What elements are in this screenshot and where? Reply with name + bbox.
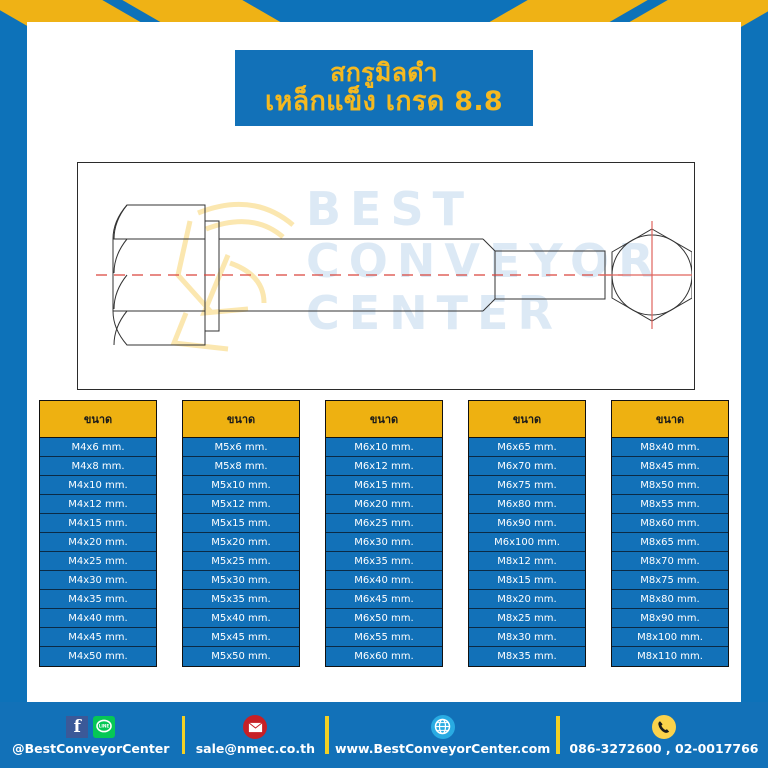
table-row[interactable]: M4x30 mm.: [40, 571, 156, 590]
table-row[interactable]: M5x40 mm.: [183, 609, 299, 628]
table-row[interactable]: M8x60 mm.: [612, 514, 728, 533]
contact-footer: f LINE @BestConveyorCenter: [0, 702, 768, 768]
size-tables: ขนาด M4x6 mm. M4x8 mm. M4x10 mm. M4x12 m…: [39, 400, 729, 667]
phone-icon[interactable]: [652, 715, 676, 739]
envelope-icon[interactable]: [243, 715, 267, 739]
phone-label: 086-3272600 , 02-0017766: [569, 741, 758, 756]
table-row[interactable]: M4x6 mm.: [40, 438, 156, 457]
page-title: สกรูมิลดำ เหล็กแข็ง เกรด 8.8: [235, 50, 533, 126]
table-row[interactable]: M5x15 mm.: [183, 514, 299, 533]
table-row[interactable]: M6x40 mm.: [326, 571, 442, 590]
table-row[interactable]: M4x35 mm.: [40, 590, 156, 609]
size-table-1: ขนาด M4x6 mm. M4x8 mm. M4x10 mm. M4x12 m…: [39, 400, 157, 667]
table-row[interactable]: M8x75 mm.: [612, 571, 728, 590]
footer-website[interactable]: www.BestConveyorCenter.com: [329, 715, 556, 756]
table-row[interactable]: M4x45 mm.: [40, 628, 156, 647]
table-body: M6x10 mm. M6x12 mm. M6x15 mm. M6x20 mm. …: [325, 438, 443, 667]
footer-email[interactable]: sale@nmec.co.th: [185, 715, 325, 756]
email-icons: [243, 715, 267, 739]
table-row[interactable]: M8x12 mm.: [469, 552, 585, 571]
title-line-1: สกรูมิลดำ: [330, 59, 438, 86]
table-row[interactable]: M5x30 mm.: [183, 571, 299, 590]
table-row[interactable]: M6x55 mm.: [326, 628, 442, 647]
table-row[interactable]: M6x35 mm.: [326, 552, 442, 571]
table-row[interactable]: M6x100 mm.: [469, 533, 585, 552]
table-body: M6x65 mm. M6x70 mm. M6x75 mm. M6x80 mm. …: [468, 438, 586, 667]
table-body: M5x6 mm. M5x8 mm. M5x10 mm. M5x12 mm. M5…: [182, 438, 300, 667]
globe-glyph: [434, 718, 451, 735]
table-row[interactable]: M8x20 mm.: [469, 590, 585, 609]
phone-icons: [652, 715, 676, 739]
table-row[interactable]: M4x15 mm.: [40, 514, 156, 533]
facebook-label: @BestConveyorCenter: [12, 741, 169, 756]
footer-phone[interactable]: 086-3272600 , 02-0017766: [560, 715, 768, 756]
watermark-line-1: BEST: [306, 182, 473, 236]
table-row[interactable]: M5x35 mm.: [183, 590, 299, 609]
table-row[interactable]: M5x45 mm.: [183, 628, 299, 647]
website-icons: [431, 715, 455, 739]
social-icons: f LINE: [66, 715, 115, 739]
table-row[interactable]: M6x65 mm.: [469, 438, 585, 457]
table-row[interactable]: M8x100 mm.: [612, 628, 728, 647]
table-row[interactable]: M8x80 mm.: [612, 590, 728, 609]
table-row[interactable]: M6x30 mm.: [326, 533, 442, 552]
table-row[interactable]: M8x55 mm.: [612, 495, 728, 514]
table-row[interactable]: M6x50 mm.: [326, 609, 442, 628]
table-row[interactable]: M5x10 mm.: [183, 476, 299, 495]
facebook-icon[interactable]: f: [66, 716, 88, 738]
table-row[interactable]: M4x20 mm.: [40, 533, 156, 552]
table-row[interactable]: M6x60 mm.: [326, 647, 442, 666]
table-row[interactable]: M8x90 mm.: [612, 609, 728, 628]
table-row[interactable]: M5x25 mm.: [183, 552, 299, 571]
table-row[interactable]: M6x20 mm.: [326, 495, 442, 514]
table-header: ขนาด: [182, 400, 300, 438]
size-table-4: ขนาด M6x65 mm. M6x70 mm. M6x75 mm. M6x80…: [468, 400, 586, 667]
table-row[interactable]: M5x50 mm.: [183, 647, 299, 666]
bolt-drawing-box: BEST CONVEYOR CENTER: [77, 162, 695, 390]
table-row[interactable]: M6x90 mm.: [469, 514, 585, 533]
globe-icon[interactable]: [431, 715, 455, 739]
table-row[interactable]: M4x40 mm.: [40, 609, 156, 628]
footer-social[interactable]: f LINE @BestConveyorCenter: [0, 715, 182, 756]
table-row[interactable]: M6x12 mm.: [326, 457, 442, 476]
content-panel: สกรูมิลดำ เหล็กแข็ง เกรด 8.8 BEST CONV: [27, 22, 741, 702]
watermark-line-2: CONVEYOR: [306, 234, 663, 288]
table-row[interactable]: M8x35 mm.: [469, 647, 585, 666]
table-row[interactable]: M5x20 mm.: [183, 533, 299, 552]
table-row[interactable]: M4x12 mm.: [40, 495, 156, 514]
table-row[interactable]: M5x6 mm.: [183, 438, 299, 457]
poster-page: สกรูมิลดำ เหล็กแข็ง เกรด 8.8 BEST CONV: [0, 0, 768, 768]
table-row[interactable]: M8x70 mm.: [612, 552, 728, 571]
table-body: M4x6 mm. M4x8 mm. M4x10 mm. M4x12 mm. M4…: [39, 438, 157, 667]
watermark-line-3: CENTER: [306, 286, 562, 340]
table-row[interactable]: M6x25 mm.: [326, 514, 442, 533]
website-label: www.BestConveyorCenter.com: [335, 741, 550, 756]
table-row[interactable]: M4x50 mm.: [40, 647, 156, 666]
table-row[interactable]: M6x70 mm.: [469, 457, 585, 476]
table-row[interactable]: M4x8 mm.: [40, 457, 156, 476]
text-watermark: BEST CONVEYOR CENTER: [306, 182, 663, 340]
table-row[interactable]: M6x75 mm.: [469, 476, 585, 495]
table-row[interactable]: M6x10 mm.: [326, 438, 442, 457]
table-row[interactable]: M8x65 mm.: [612, 533, 728, 552]
email-label: sale@nmec.co.th: [196, 741, 315, 756]
table-row[interactable]: M8x15 mm.: [469, 571, 585, 590]
table-row[interactable]: M5x8 mm.: [183, 457, 299, 476]
table-row[interactable]: M5x12 mm.: [183, 495, 299, 514]
table-row[interactable]: M4x10 mm.: [40, 476, 156, 495]
title-line-2: เหล็กแข็ง เกรด 8.8: [265, 87, 503, 116]
line-badge-text: LINE: [99, 723, 110, 728]
table-row[interactable]: M8x45 mm.: [612, 457, 728, 476]
table-body: M8x40 mm. M8x45 mm. M8x50 mm. M8x55 mm. …: [611, 438, 729, 667]
table-header: ขนาด: [39, 400, 157, 438]
table-header: ขนาด: [468, 400, 586, 438]
table-header: ขนาด: [611, 400, 729, 438]
table-row[interactable]: M6x80 mm.: [469, 495, 585, 514]
table-header: ขนาด: [325, 400, 443, 438]
table-row[interactable]: M4x25 mm.: [40, 552, 156, 571]
table-row[interactable]: M6x15 mm.: [326, 476, 442, 495]
line-glyph: LINE: [95, 718, 113, 736]
phone-glyph: [657, 720, 671, 734]
envelope-glyph: [248, 721, 263, 733]
line-icon[interactable]: LINE: [93, 716, 115, 738]
size-table-3: ขนาด M6x10 mm. M6x12 mm. M6x15 mm. M6x20…: [325, 400, 443, 667]
table-row[interactable]: M8x110 mm.: [612, 647, 728, 666]
table-row[interactable]: M8x40 mm.: [612, 438, 728, 457]
size-table-5: ขนาด M8x40 mm. M8x45 mm. M8x50 mm. M8x55…: [611, 400, 729, 667]
table-row[interactable]: M8x30 mm.: [469, 628, 585, 647]
size-table-2: ขนาด M5x6 mm. M5x8 mm. M5x10 mm. M5x12 m…: [182, 400, 300, 667]
hex-bolt-diagram: BEST CONVEYOR CENTER: [78, 163, 692, 387]
table-row[interactable]: M8x25 mm.: [469, 609, 585, 628]
logo-watermark: [174, 204, 293, 349]
table-row[interactable]: M6x45 mm.: [326, 590, 442, 609]
table-row[interactable]: M8x50 mm.: [612, 476, 728, 495]
